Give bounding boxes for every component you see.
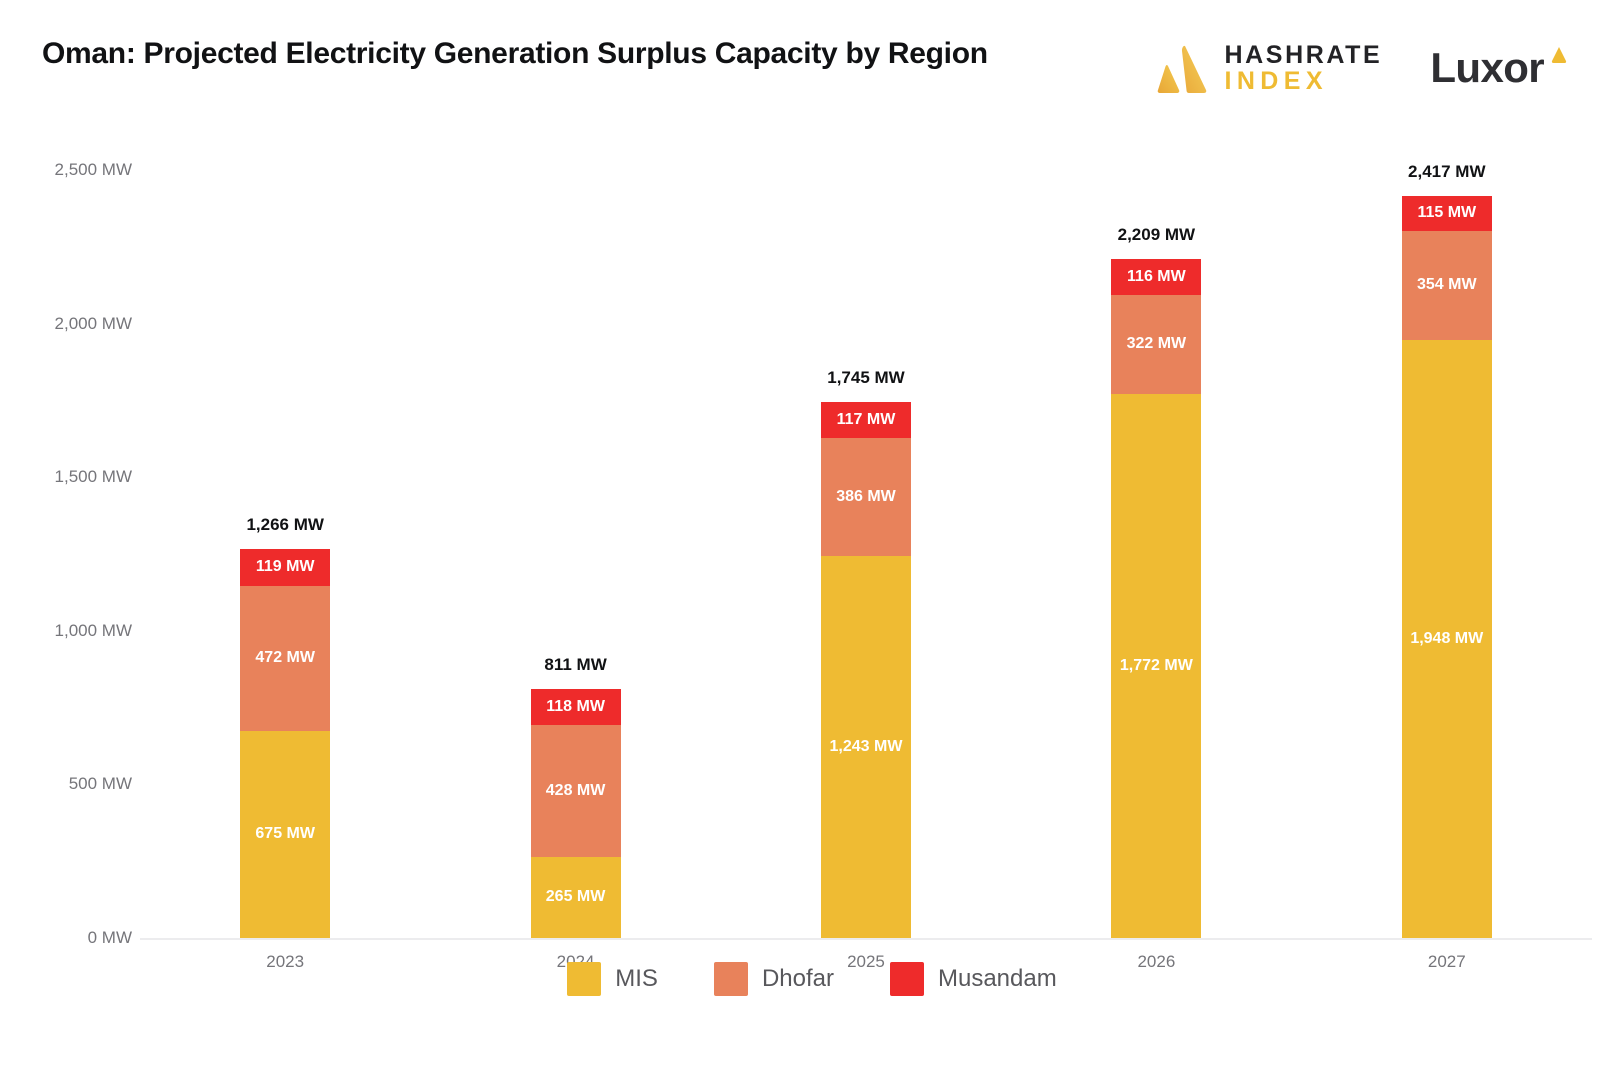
y-axis: 0 MW500 MW1,000 MW1,500 MW2,000 MW2,500 … bbox=[0, 140, 132, 960]
legend-color-swatch bbox=[890, 962, 924, 996]
chart-header: Oman: Projected Electricity Generation S… bbox=[0, 0, 1624, 140]
bar-segment-value: 428 MW bbox=[546, 782, 606, 800]
bar-segment-value: 354 MW bbox=[1417, 276, 1477, 294]
y-axis-tick-label: 1,000 MW bbox=[0, 621, 132, 641]
bar-segment-value: 265 MW bbox=[546, 888, 606, 906]
triangle-mark-icon bbox=[1550, 46, 1568, 64]
bar-segment-mis[interactable]: 675 MW bbox=[240, 731, 330, 938]
logo-group: HASHRATE INDEX Luxor bbox=[1154, 40, 1568, 96]
bar-segment-dhofar[interactable]: 428 MW bbox=[531, 725, 621, 856]
bar-slot-2023: 675 MW472 MW119 MW1,266 MW2023 bbox=[140, 140, 430, 938]
luxor-logo: Luxor bbox=[1430, 44, 1568, 92]
stacked-bar[interactable]: 1,772 MW322 MW116 MW bbox=[1111, 259, 1201, 938]
bar-group: 675 MW472 MW119 MW1,266 MW2023265 MW428 … bbox=[140, 140, 1592, 938]
hashrate-index-wordmark: HASHRATE INDEX bbox=[1224, 42, 1382, 95]
legend-label: MIS bbox=[615, 965, 658, 993]
y-axis-tick-label: 1,500 MW bbox=[0, 467, 132, 487]
page-title: Oman: Projected Electricity Generation S… bbox=[42, 34, 1002, 74]
chart-plot-area: 0 MW500 MW1,000 MW1,500 MW2,000 MW2,500 … bbox=[0, 140, 1624, 960]
bar-total-label: 1,266 MW bbox=[246, 515, 323, 535]
hashrate-index-logo: HASHRATE INDEX bbox=[1154, 40, 1382, 96]
y-axis-tick-label: 2,500 MW bbox=[0, 160, 132, 180]
legend-color-swatch bbox=[567, 962, 601, 996]
bar-slot-2027: 1,948 MW354 MW115 MW2,417 MW2027 bbox=[1302, 140, 1592, 938]
bar-segment-musandam[interactable]: 115 MW bbox=[1402, 196, 1492, 231]
bar-segment-value: 118 MW bbox=[546, 698, 605, 716]
legend-color-swatch bbox=[714, 962, 748, 996]
bar-total-label: 811 MW bbox=[544, 655, 606, 675]
chart-legend: MISDhofarMusandam bbox=[0, 962, 1624, 996]
bar-segment-mis[interactable]: 1,948 MW bbox=[1402, 340, 1492, 938]
bar-segment-value: 115 MW bbox=[1417, 204, 1476, 222]
bar-segment-value: 472 MW bbox=[255, 649, 315, 667]
bar-total-label: 1,745 MW bbox=[827, 368, 904, 388]
bar-slot-2026: 1,772 MW322 MW116 MW2,209 MW2026 bbox=[1011, 140, 1301, 938]
bar-segment-musandam[interactable]: 119 MW bbox=[240, 549, 330, 586]
bar-segment-mis[interactable]: 1,772 MW bbox=[1111, 394, 1201, 938]
bar-segment-dhofar[interactable]: 472 MW bbox=[240, 586, 330, 731]
bar-segment-value: 1,772 MW bbox=[1120, 657, 1193, 675]
bar-segment-mis[interactable]: 1,243 MW bbox=[821, 556, 911, 938]
bar-segment-dhofar[interactable]: 354 MW bbox=[1402, 231, 1492, 340]
stacked-bar[interactable]: 265 MW428 MW118 MW bbox=[531, 689, 621, 938]
legend-item-dhofar[interactable]: Dhofar bbox=[714, 962, 834, 996]
stacked-bar[interactable]: 1,948 MW354 MW115 MW bbox=[1402, 196, 1492, 938]
stacked-bar[interactable]: 675 MW472 MW119 MW bbox=[240, 549, 330, 938]
bar-segment-value: 1,243 MW bbox=[830, 738, 903, 756]
bar-total-label: 2,417 MW bbox=[1408, 162, 1485, 182]
bar-segment-musandam[interactable]: 117 MW bbox=[821, 402, 911, 438]
bar-segment-dhofar[interactable]: 386 MW bbox=[821, 438, 911, 557]
legend-label: Dhofar bbox=[762, 965, 834, 993]
bar-segment-value: 386 MW bbox=[836, 488, 896, 506]
bar-segment-mis[interactable]: 265 MW bbox=[531, 857, 621, 938]
chart-page: Oman: Projected Electricity Generation S… bbox=[0, 0, 1624, 1065]
legend-item-musandam[interactable]: Musandam bbox=[890, 962, 1057, 996]
bar-segment-value: 117 MW bbox=[837, 411, 896, 429]
y-axis-tick-label: 0 MW bbox=[0, 928, 132, 948]
bar-slot-2024: 265 MW428 MW118 MW811 MW2024 bbox=[430, 140, 720, 938]
bar-segment-value: 119 MW bbox=[256, 558, 315, 576]
bar-segment-value: 322 MW bbox=[1127, 335, 1187, 353]
bar-total-label: 2,209 MW bbox=[1118, 225, 1195, 245]
y-axis-tick-label: 500 MW bbox=[0, 774, 132, 794]
x-axis-line bbox=[140, 938, 1592, 940]
bar-segment-value: 675 MW bbox=[255, 825, 315, 843]
bar-segment-value: 116 MW bbox=[1127, 268, 1186, 286]
legend-item-mis[interactable]: MIS bbox=[567, 962, 658, 996]
bar-segment-musandam[interactable]: 118 MW bbox=[531, 689, 621, 725]
legend-label: Musandam bbox=[938, 965, 1057, 993]
y-axis-tick-label: 2,000 MW bbox=[0, 314, 132, 334]
mountain-triangle-icon bbox=[1154, 40, 1210, 96]
bar-segment-dhofar[interactable]: 322 MW bbox=[1111, 295, 1201, 394]
bar-segment-value: 1,948 MW bbox=[1410, 630, 1483, 648]
index-word: INDEX bbox=[1224, 68, 1382, 94]
stacked-bar[interactable]: 1,243 MW386 MW117 MW bbox=[821, 402, 911, 938]
bar-slot-2025: 1,243 MW386 MW117 MW1,745 MW2025 bbox=[721, 140, 1011, 938]
bar-segment-musandam[interactable]: 116 MW bbox=[1111, 259, 1201, 295]
hashrate-word: HASHRATE bbox=[1224, 42, 1382, 68]
luxor-wordmark: Luxor bbox=[1430, 44, 1544, 92]
